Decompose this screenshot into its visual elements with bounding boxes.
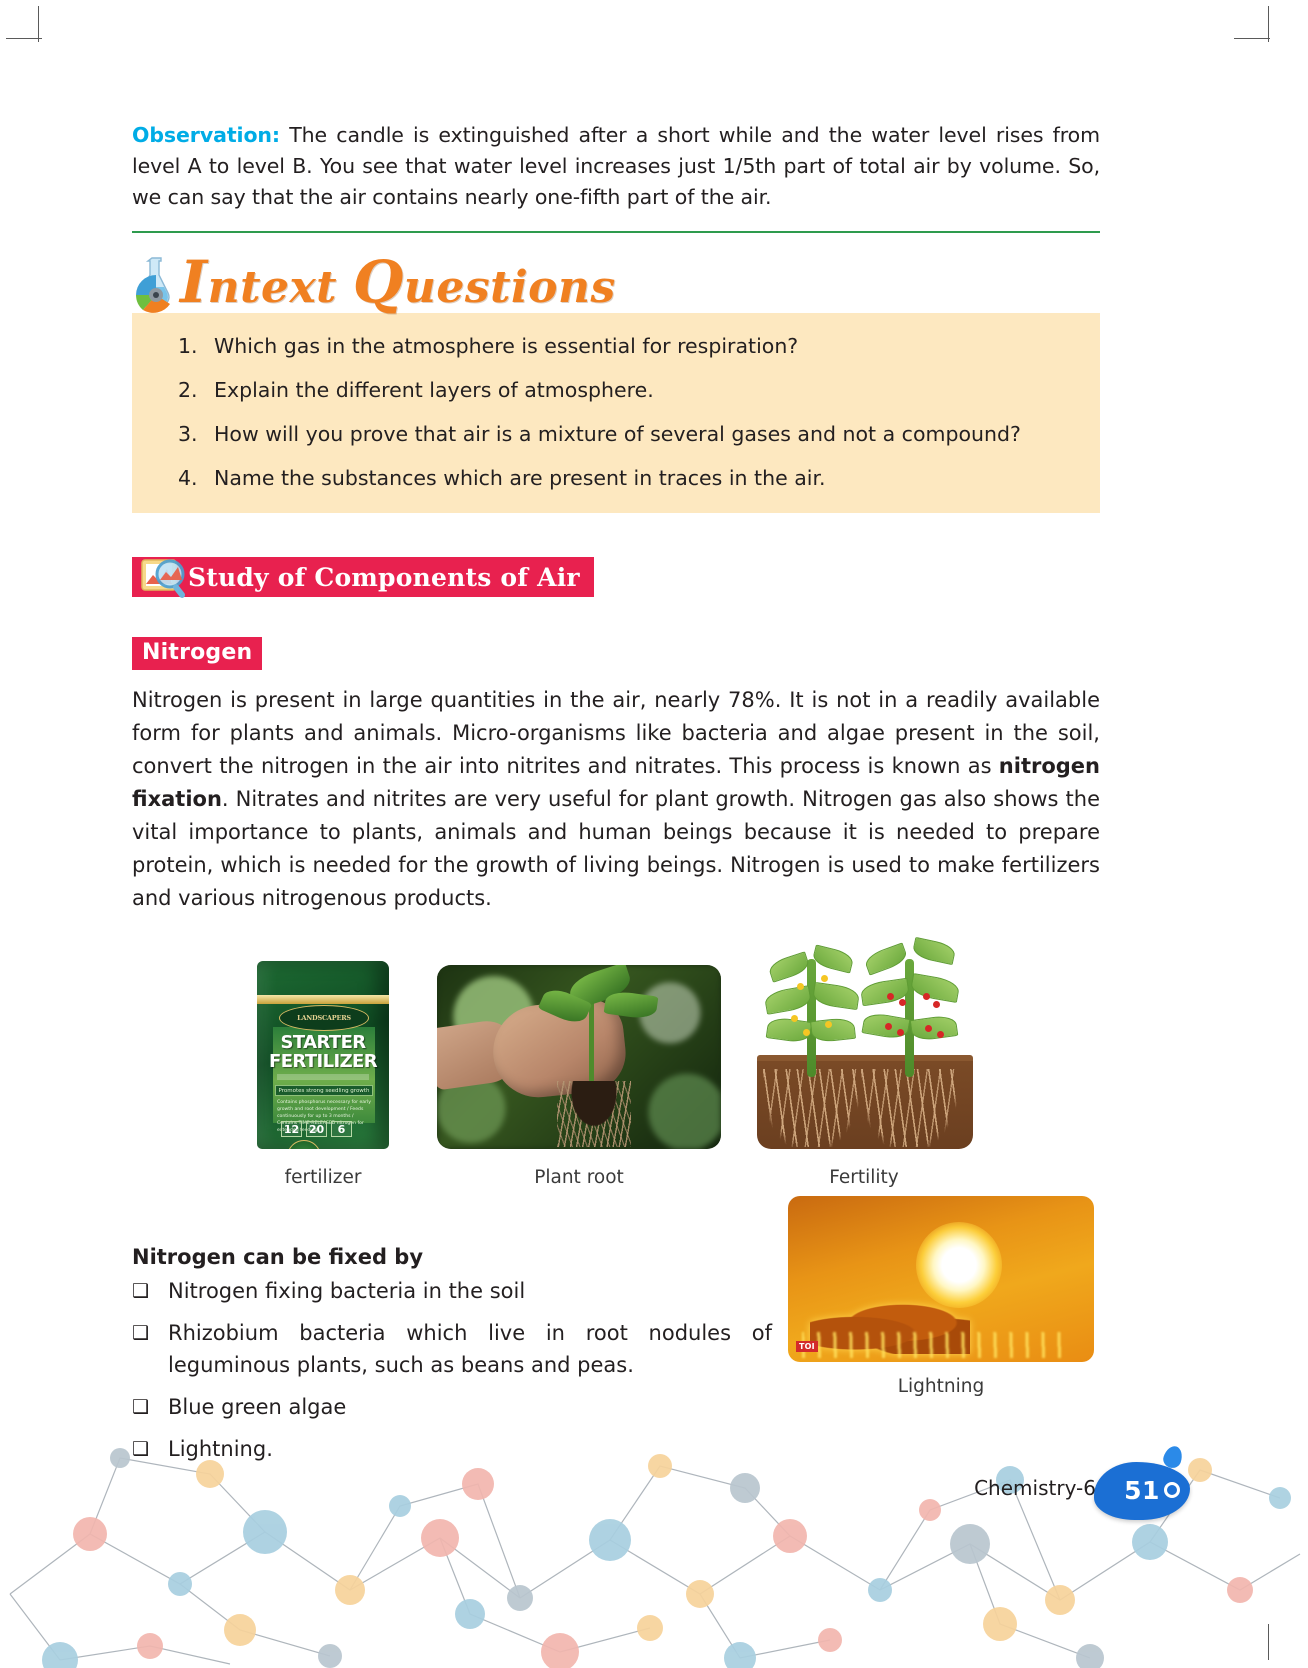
footer-subject-label: Chemistry-6 [974, 1476, 1096, 1500]
textbook-page: Observation: The candle is extinguished … [0, 0, 1308, 1668]
question-text: How will you prove that air is a mixture… [214, 419, 1021, 449]
crop-mark-tr-h [1234, 38, 1270, 39]
fixed-by-item-text: Nitrogen fixing bacteria in the soil [168, 1275, 772, 1307]
bag-seal-badge [287, 1140, 321, 1149]
plant-leaf [863, 942, 909, 975]
nitrogen-paragraph: Nitrogen is present in large quantities … [132, 684, 1100, 915]
root-mass [557, 1081, 631, 1147]
flower-dot [825, 1021, 832, 1028]
bag-product-line2: FERTILIZER [257, 1052, 389, 1071]
checkbox-bullet-icon: ❑ [132, 1275, 168, 1307]
plant-leaf [910, 1014, 959, 1042]
plant-leaf [911, 937, 956, 965]
question-text: Explain the different layers of atmosphe… [214, 375, 654, 405]
berry-dot [897, 1029, 904, 1036]
npk-p: 20 [306, 1121, 327, 1137]
flower-dot [791, 1015, 798, 1022]
sun-glow [916, 1222, 1002, 1308]
intext-questions-title: Intext Questions [180, 253, 616, 311]
nitrogen-paragraph-part1: Nitrogen is present in large quantities … [132, 688, 1100, 778]
nitrogen-paragraph-part2: . Nitrates and nitrites are very useful … [132, 787, 1100, 910]
list-item: 2.Explain the different layers of atmosp… [178, 375, 1080, 405]
berry-plant [861, 937, 957, 1077]
bag-npk-numbers: 12 20 6 [281, 1121, 352, 1137]
lightning-sunset-image: TOI [788, 1196, 1094, 1362]
list-item: ❑Rhizobium bacteria which live in root n… [132, 1317, 772, 1381]
questions-list: 1.Which gas in the atmosphere is essenti… [178, 331, 1080, 493]
fertilizer-bag-image: LANDSCAPERS STARTER FERTILIZER Promotes … [257, 961, 389, 1149]
page-badge-ring-icon [1164, 1482, 1180, 1498]
figure-caption-fertility: Fertility [764, 1167, 964, 1188]
plant-roots [861, 1069, 957, 1147]
chemistry-flask-icon [132, 255, 178, 313]
nitrogen-tag: Nitrogen [132, 637, 262, 670]
toi-watermark: TOI [796, 1341, 818, 1352]
plant-leaf [811, 944, 855, 973]
intext-questions-heading: Intext Questions [132, 247, 1100, 313]
berry-dot [933, 1001, 940, 1008]
intext-title-ntext: ntext [208, 262, 353, 313]
bag-product-name: STARTER FERTILIZER [257, 1033, 389, 1071]
list-item: ❑Nitrogen fixing bacteria in the soil [132, 1275, 772, 1307]
plant-leaf [763, 985, 812, 1015]
question-number: 3. [178, 419, 214, 449]
observation-paragraph: Observation: The candle is extinguished … [132, 120, 1100, 213]
berry-dot [937, 1031, 944, 1038]
lightning-figure: TOI Lightning [788, 1196, 1094, 1397]
figure-caption-lightning: Lightning [788, 1376, 1094, 1397]
bag-product-line1: STARTER [257, 1033, 389, 1052]
page-number-badge: 51 [1094, 1462, 1190, 1520]
molecule-decoration-band [0, 1414, 1308, 1668]
question-number: 2. [178, 375, 214, 405]
bag-gold-band [257, 995, 389, 1004]
figure-row: LANDSCAPERS STARTER FERTILIZER Promotes … [132, 945, 1100, 1205]
question-text: Name the substances which are present in… [214, 463, 826, 493]
npk-k: 6 [331, 1121, 352, 1137]
section-header-banner: Study of Components of Air [132, 557, 594, 597]
magnifier-over-picture-icon [138, 550, 192, 604]
berry-dot [925, 1025, 932, 1032]
list-item: 4.Name the substances which are present … [178, 463, 1080, 493]
figure-caption-plant-root: Plant root [479, 1167, 679, 1188]
flower-dot [803, 1029, 810, 1036]
plant-leaf [767, 951, 811, 982]
plant-roots [763, 1069, 859, 1147]
question-number: 4. [178, 463, 214, 493]
fixed-by-item-text: Rhizobium bacteria which live in root no… [168, 1317, 772, 1381]
fertility-illustration [757, 931, 973, 1149]
berry-dot [923, 993, 930, 1000]
lightning-bolt [802, 1332, 1072, 1358]
berry-dot [899, 999, 906, 1006]
npk-n: 12 [281, 1121, 302, 1137]
crop-mark-tr-v [1268, 6, 1269, 42]
intext-title-q: Q [353, 248, 404, 316]
flower-dot [821, 975, 828, 982]
berry-dot [887, 993, 894, 1000]
green-divider [132, 231, 1100, 233]
list-item: 3.How will you prove that air is a mixtu… [178, 419, 1080, 449]
flowering-plant [763, 937, 859, 1077]
plant-stem [807, 959, 816, 1077]
crop-mark-tl-v [38, 6, 39, 42]
plant-leaf [909, 973, 960, 1003]
bag-brand-oval: LANDSCAPERS [279, 1005, 369, 1031]
plant-root-photo [437, 965, 721, 1149]
checkbox-bullet-icon: ❑ [132, 1317, 168, 1381]
list-item: 1.Which gas in the atmosphere is essenti… [178, 331, 1080, 361]
intext-questions-box: 1.Which gas in the atmosphere is essenti… [132, 313, 1100, 513]
question-number: 1. [178, 331, 214, 361]
plant-leaf [810, 1017, 856, 1043]
section-title: Study of Components of Air [188, 563, 580, 592]
observation-label: Observation: [132, 123, 280, 147]
crop-mark-tl-h [6, 38, 42, 39]
bag-subtitle-bar [277, 1074, 369, 1080]
question-text: Which gas in the atmosphere is essential… [214, 331, 798, 361]
intext-title-i: I [180, 248, 208, 316]
figure-caption-fertilizer: fertilizer [223, 1167, 423, 1188]
plant-leaf [812, 982, 861, 1010]
flower-dot [797, 983, 804, 990]
berry-dot [885, 1023, 892, 1030]
bag-claim: Promotes strong seedling growth [275, 1085, 373, 1096]
intext-title-uestions: uestions [404, 262, 616, 313]
